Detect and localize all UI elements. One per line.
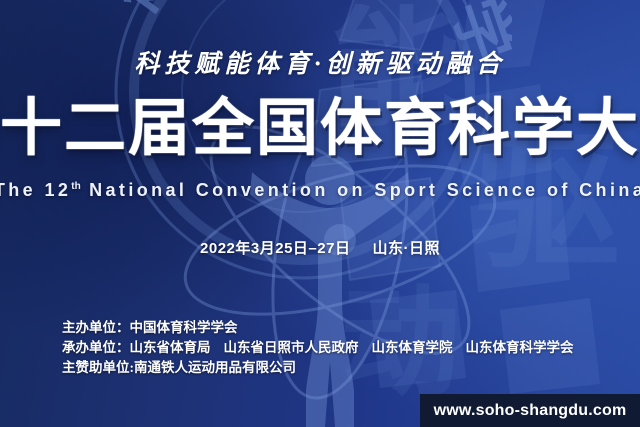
organizer-row: 承办单位：山东省体育局山东省日照市人民政府山东体育学院山东体育科学学会 bbox=[62, 338, 574, 358]
sponsor-label: 主赞助单位: bbox=[62, 360, 134, 375]
subtitle-ordinal-suffix: th bbox=[71, 181, 80, 192]
watermark-url: www.soho-shangdu.com bbox=[434, 402, 627, 420]
organizer-value-3: 山东体育学院 bbox=[372, 340, 453, 355]
poster-banner: 体 育 科 学 bbox=[0, 0, 640, 427]
event-location: 山东·日照 bbox=[372, 240, 440, 257]
organizer-value-4: 山东体育科学学会 bbox=[466, 340, 574, 355]
poster-date-location: 2022年3月25日–27日山东·日照 bbox=[0, 237, 640, 258]
organizer-value-1: 山东省体育局 bbox=[130, 340, 211, 355]
host-label: 主办单位： bbox=[62, 320, 130, 335]
organizer-block: 主办单位：中国体育科学学会 承办单位：山东省体育局山东省日照市人民政府山东体育学… bbox=[62, 318, 574, 378]
host-value: 中国体育科学学会 bbox=[130, 320, 238, 335]
organizer-value-2: 山东省日照市人民政府 bbox=[224, 340, 359, 355]
poster-tagline: 科技赋能体育·创新驱动融合 bbox=[0, 44, 640, 80]
poster-subtitle: The 12th National Convention on Sport Sc… bbox=[0, 180, 640, 201]
subtitle-prefix: The 12 bbox=[0, 180, 71, 200]
watermark-bar: www.soho-shangdu.com bbox=[420, 394, 640, 427]
poster-main-title: 第十二届全国体育科学大会 bbox=[0, 98, 640, 160]
sponsor-value: 南通铁人运动用品有限公司 bbox=[134, 360, 296, 375]
subtitle-rest: National Convention on Sport Science of … bbox=[81, 180, 640, 200]
host-row: 主办单位：中国体育科学学会 bbox=[62, 318, 574, 338]
sponsor-row: 主赞助单位:南通铁人运动用品有限公司 bbox=[62, 358, 574, 378]
organizer-label: 承办单位： bbox=[62, 340, 130, 355]
event-date: 2022年3月25日–27日 bbox=[200, 240, 350, 257]
